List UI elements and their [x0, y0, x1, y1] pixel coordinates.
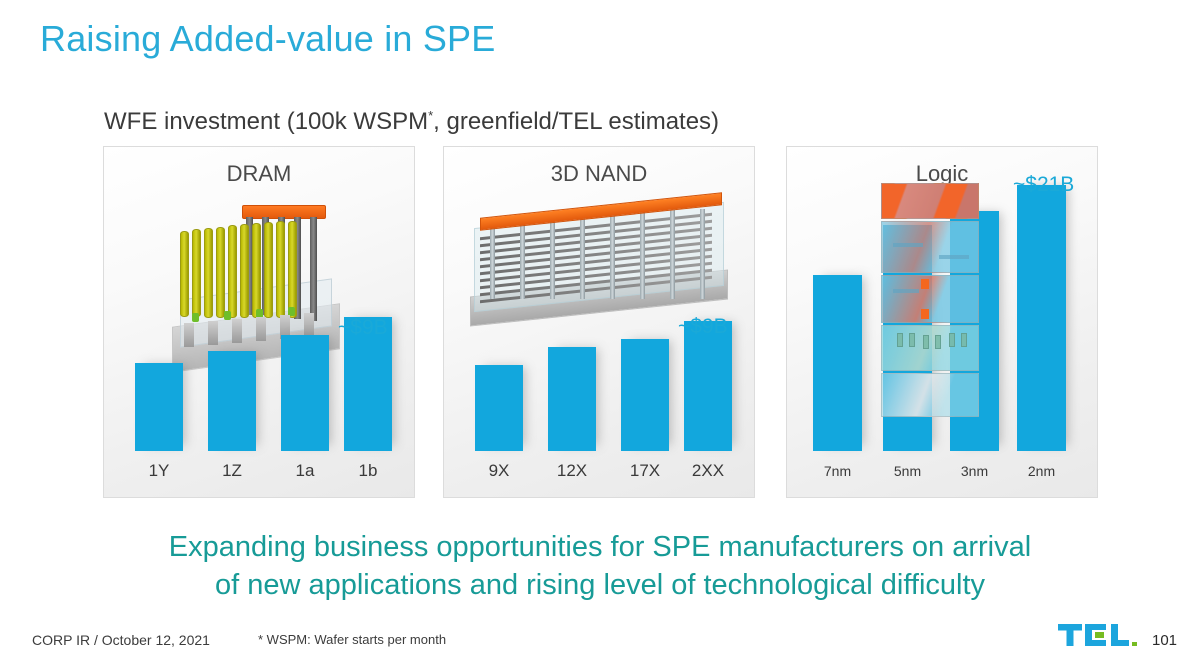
logic-fin	[935, 335, 941, 349]
axis-label-nand-2: 17X	[621, 461, 669, 481]
bar-nand-2xx	[684, 321, 732, 451]
value-label-logic: ~$21B	[1013, 173, 1074, 197]
bar-dram-1y	[135, 363, 183, 451]
bar-logic-5nm	[883, 225, 932, 451]
bar-nand-12x	[548, 347, 596, 451]
chart-group-heading: WFE investment (100k WSPM*, greenfield/T…	[104, 108, 719, 136]
axis-label-nand-1: 12X	[548, 461, 596, 481]
bar-group-logic: ~$21B 7nm 5nm 3nm 2nm	[787, 147, 1097, 497]
axis-label-logic-2: 3nm	[950, 463, 999, 479]
chart-group-heading-tail: , greenfield/TEL estimates)	[433, 108, 719, 135]
bar-logic-7nm	[813, 275, 862, 451]
value-label-dram: ~$9B	[338, 316, 388, 340]
key-message-line-1: Expanding business opportunities for SPE…	[0, 528, 1200, 566]
bar-dram-1a	[281, 335, 329, 451]
bar-group-3d-nand: ~$9B 9X 12X 17X 2XX	[444, 147, 754, 497]
axis-label-dram-1: 1Z	[208, 461, 256, 481]
footer-source: CORP IR / October 12, 2021	[32, 632, 210, 648]
page-title: Raising Added-value in SPE	[40, 18, 495, 60]
axis-label-logic-1: 5nm	[883, 463, 932, 479]
bar-logic-2nm	[1017, 185, 1066, 451]
bar-nand-17x	[621, 339, 669, 451]
key-message: Expanding business opportunities for SPE…	[0, 528, 1200, 604]
key-message-line-2: of new applications and rising level of …	[0, 566, 1200, 604]
chart-panel-logic: Logic	[786, 146, 1098, 498]
axis-label-logic-0: 7nm	[813, 463, 862, 479]
bar-logic-3nm	[950, 211, 999, 451]
bar-group-dram: ~$9B 1Y 1Z 1a 1b	[104, 147, 414, 497]
chart-group-heading-main: WFE investment (100k WSPM	[104, 108, 428, 135]
page-number: 101	[1152, 632, 1177, 649]
bar-dram-1z	[208, 351, 256, 451]
chart-panel-3d-nand: 3D NAND	[443, 146, 755, 498]
tel-logo-icon	[1058, 620, 1140, 652]
axis-label-logic-3: 2nm	[1017, 463, 1066, 479]
bar-nand-9x	[475, 365, 523, 451]
axis-label-nand-0: 9X	[475, 461, 523, 481]
footer-footnote: * WSPM: Wafer starts per month	[258, 632, 446, 647]
chart-panel-dram: DRAM	[103, 146, 415, 498]
axis-label-nand-3: 2XX	[684, 461, 732, 481]
axis-label-dram-3: 1b	[344, 461, 392, 481]
slide-root: Raising Added-value in SPE WFE investmen…	[0, 0, 1200, 662]
axis-label-dram-0: 1Y	[135, 461, 183, 481]
axis-label-dram-2: 1a	[281, 461, 329, 481]
value-label-3d-nand: ~$9B	[678, 315, 728, 339]
